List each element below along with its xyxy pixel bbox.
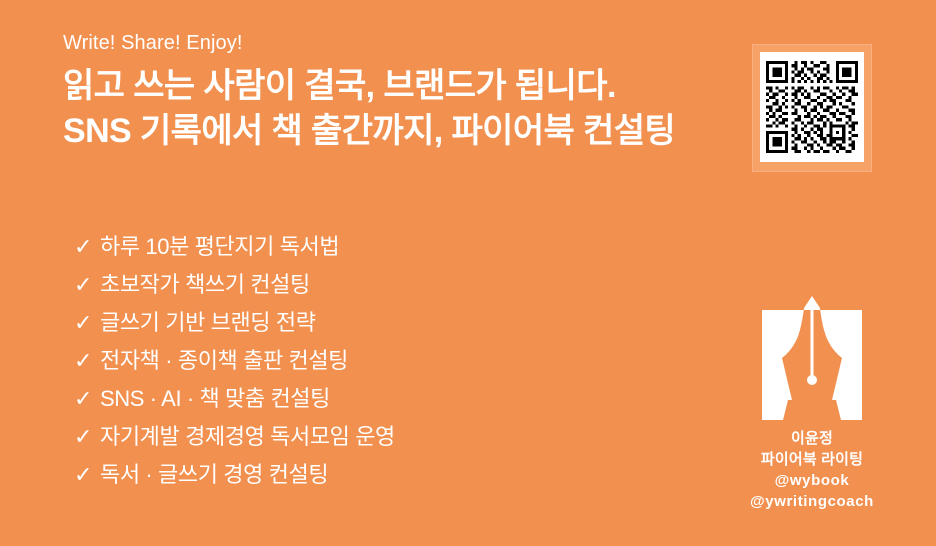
signature-brand: 파이어북 라이팅: [712, 449, 912, 470]
brand-block: 이윤정 파이어북 라이팅 @wybook @ywritingcoach: [712, 296, 912, 512]
list-item-label: SNS · AI · 책 맞춤 컨설팅: [100, 384, 330, 414]
list-item: ✓ 글쓰기 기반 브랜딩 전략: [74, 308, 634, 346]
signature-handle-1[interactable]: @wybook: [712, 470, 912, 491]
tagline: Write! Share! Enjoy!: [63, 30, 753, 56]
check-icon: ✓: [74, 346, 100, 376]
headline-line-2: SNS 기록에서 책 출간까지, 파이어북 컨설팅: [63, 109, 753, 154]
list-item-label: 글쓰기 기반 브랜딩 전략: [100, 308, 316, 338]
check-icon: ✓: [74, 460, 100, 490]
qr-code-icon[interactable]: [766, 58, 858, 156]
list-item-label: 전자책 · 종이책 출판 컨설팅: [100, 346, 348, 376]
list-item: ✓ 독서 · 글쓰기 경영 컨설팅: [74, 460, 634, 498]
list-item-label: 하루 10분 평단지기 독서법: [100, 232, 339, 262]
qr-code-panel[interactable]: [760, 52, 864, 162]
list-item: ✓ 전자책 · 종이책 출판 컨설팅: [74, 346, 634, 384]
check-icon: ✓: [74, 422, 100, 452]
signature-name: 이윤정: [712, 428, 912, 449]
list-item-label: 초보작가 책쓰기 컨설팅: [100, 270, 310, 300]
promo-card: Write! Share! Enjoy! 읽고 쓰는 사람이 결국, 브랜드가 …: [0, 0, 936, 546]
signature-handle-2[interactable]: @ywritingcoach: [712, 491, 912, 512]
signature-block: 이윤정 파이어북 라이팅 @wybook @ywritingcoach: [712, 428, 912, 512]
header-block: Write! Share! Enjoy! 읽고 쓰는 사람이 결국, 브랜드가 …: [63, 30, 753, 154]
list-item: ✓ 자기계발 경제경영 독서모임 운영: [74, 422, 634, 460]
list-item: ✓ 하루 10분 평단지기 독서법: [74, 232, 634, 270]
check-icon: ✓: [74, 308, 100, 338]
qr-code-frame[interactable]: [752, 44, 872, 172]
service-checklist: ✓ 하루 10분 평단지기 독서법 ✓ 초보작가 책쓰기 컨설팅 ✓ 글쓰기 기…: [74, 232, 634, 498]
pen-nib-logo-icon: [756, 296, 868, 420]
list-item: ✓ 초보작가 책쓰기 컨설팅: [74, 270, 634, 308]
list-item-label: 독서 · 글쓰기 경영 컨설팅: [100, 460, 328, 490]
list-item-label: 자기계발 경제경영 독서모임 운영: [100, 422, 395, 452]
headline-block: 읽고 쓰는 사람이 결국, 브랜드가 됩니다. SNS 기록에서 책 출간까지,…: [63, 64, 753, 154]
check-icon: ✓: [74, 270, 100, 300]
list-item: ✓ SNS · AI · 책 맞춤 컨설팅: [74, 384, 634, 422]
check-icon: ✓: [74, 232, 100, 262]
check-icon: ✓: [74, 384, 100, 414]
headline-line-1: 읽고 쓰는 사람이 결국, 브랜드가 됩니다.: [63, 64, 753, 109]
